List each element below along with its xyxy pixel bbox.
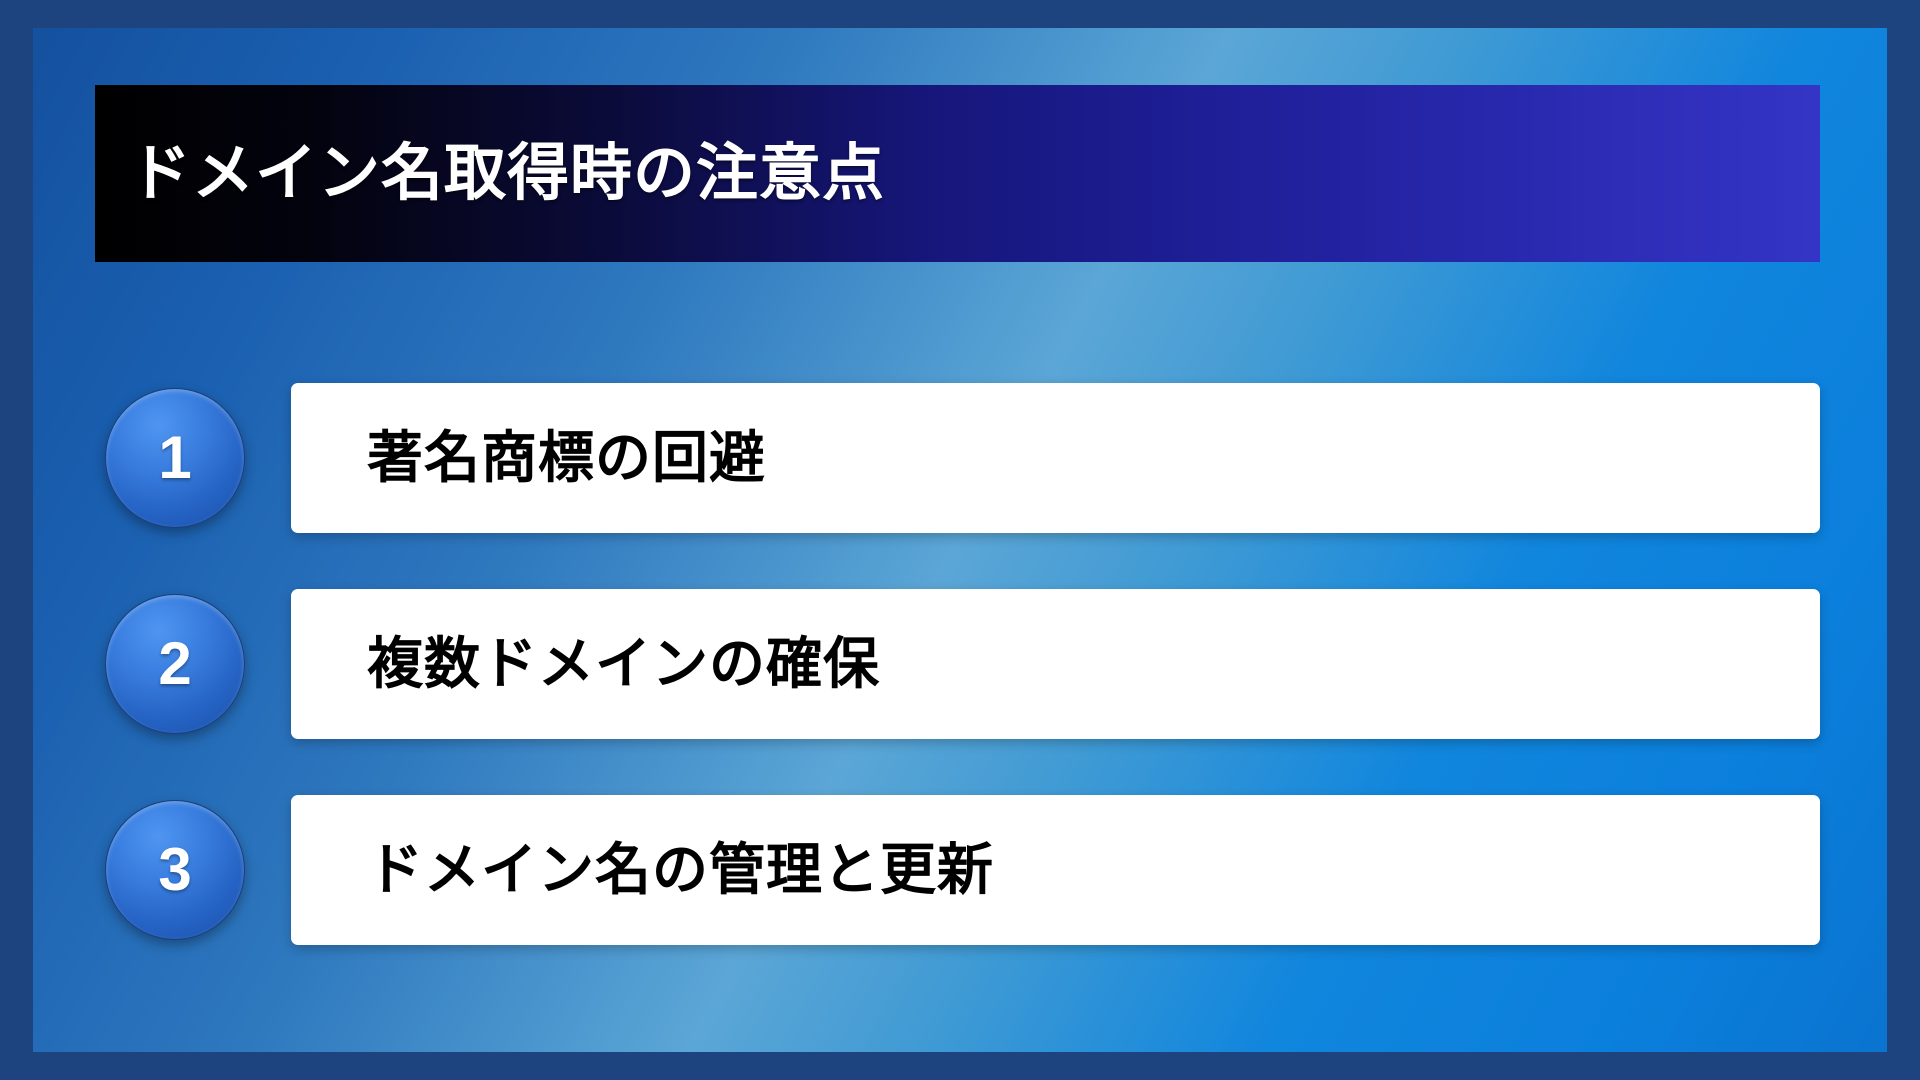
- number-badge-3: 3: [105, 800, 245, 940]
- numbered-list: 1 著名商標の回避 2 複数ドメインの確保 3 ドメイン名の: [95, 383, 1820, 945]
- page-title: ドメイン名取得時の注意点: [129, 143, 885, 205]
- list-item[interactable]: 2 複数ドメインの確保: [95, 589, 1820, 739]
- list-item-card-2[interactable]: 複数ドメインの確保: [291, 589, 1820, 739]
- number-badge-2: 2: [105, 594, 245, 734]
- title-banner: ドメイン名取得時の注意点: [95, 85, 1820, 262]
- slide-panel: ドメイン名取得時の注意点 1 著名商標の回避 2 複数ドメインの確保: [33, 28, 1887, 1052]
- list-item-label: ドメイン名の管理と更新: [367, 842, 994, 898]
- badge-number-label: 3: [158, 840, 191, 900]
- number-badge-1: 1: [105, 388, 245, 528]
- slide-root: ドメイン名取得時の注意点 1 著名商標の回避 2 複数ドメインの確保: [0, 0, 1920, 1080]
- list-item[interactable]: 1 著名商標の回避: [95, 383, 1820, 533]
- badge-number-label: 2: [158, 634, 191, 694]
- list-item-card-3[interactable]: ドメイン名の管理と更新: [291, 795, 1820, 945]
- list-item-label: 著名商標の回避: [367, 430, 766, 486]
- badge-number-label: 1: [158, 428, 191, 488]
- list-item-label: 複数ドメインの確保: [367, 636, 880, 692]
- list-item-card-1[interactable]: 著名商標の回避: [291, 383, 1820, 533]
- list-item[interactable]: 3 ドメイン名の管理と更新: [95, 795, 1820, 945]
